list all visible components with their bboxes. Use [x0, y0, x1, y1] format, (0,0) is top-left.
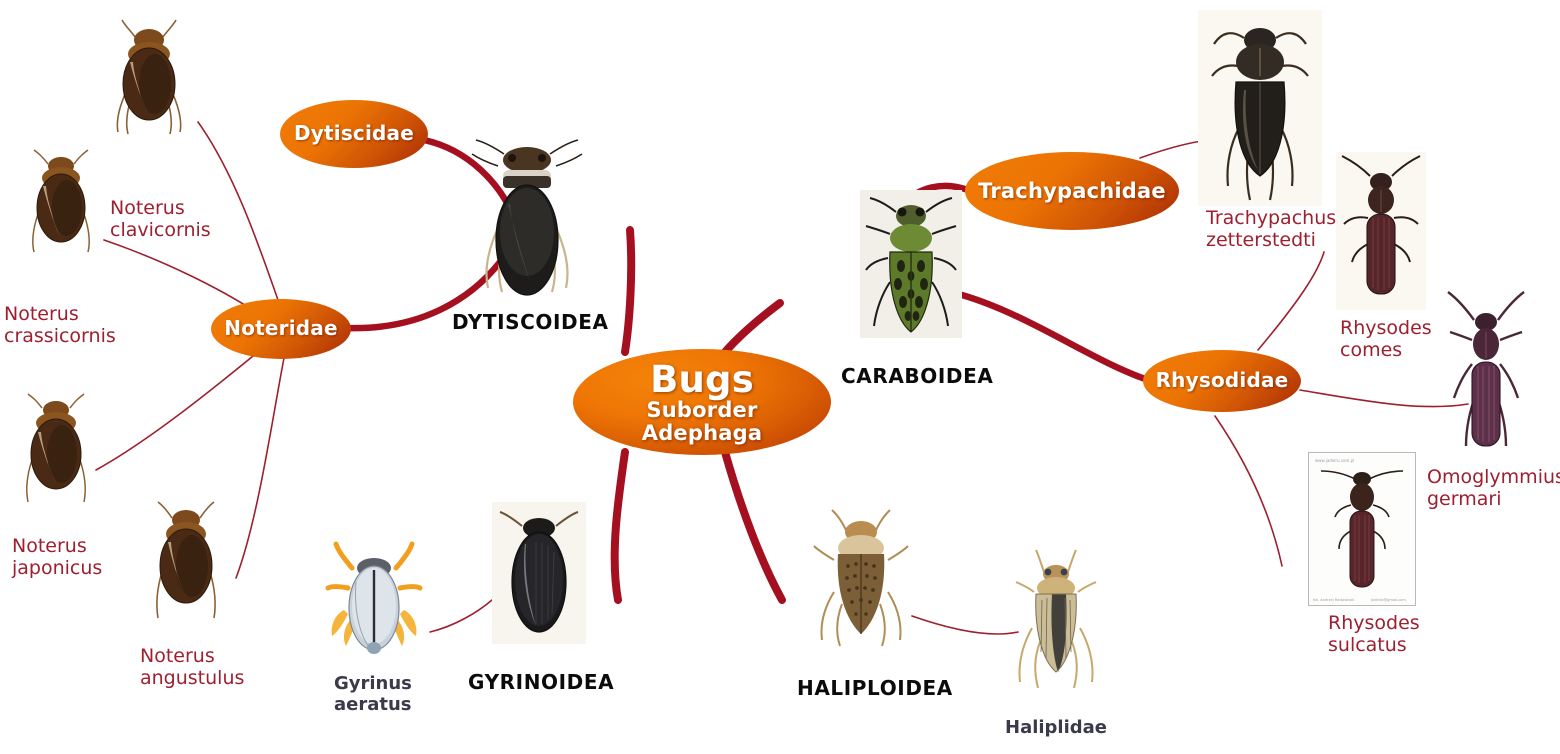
- line-noterus-japonicus: [96, 352, 258, 470]
- node-noteridae-label: Noteridae: [224, 318, 338, 339]
- center-title: Bugs: [650, 360, 754, 399]
- beetle-noterus-clavicornis: [100, 18, 198, 136]
- beetle-gyrinoidea: [492, 502, 586, 644]
- beetle-caraboidea: [860, 190, 962, 338]
- node-dytiscidae[interactable]: Dytiscidae: [280, 100, 428, 168]
- branch-center-haliploidea: [725, 452, 782, 600]
- node-noteridae[interactable]: Noteridae: [211, 299, 351, 359]
- label-haliplidae: Haliplidae: [1005, 717, 1107, 738]
- line-haliplidae: [912, 616, 1018, 634]
- label-trachypachus-zetterstedti: Trachypachus zetterstedti: [1206, 207, 1336, 252]
- label-caraboidea: CARABOIDEA: [841, 364, 993, 388]
- beetle-haliploidea: [806, 508, 916, 648]
- center-subtitle-line1: Suborder: [646, 399, 757, 421]
- mindmap-canvas: .thick{fill:none;stroke:#A51020;stroke-l…: [0, 0, 1560, 754]
- beetle-trachypachus: [1198, 10, 1322, 206]
- node-dytiscidae-label: Dytiscidae: [294, 123, 414, 144]
- label-haliploidea: HALIPLOIDEA: [797, 676, 953, 700]
- beetle-gyrinus-aeratus: [320, 536, 428, 660]
- line-rhysodes-sulcatus: [1215, 416, 1282, 566]
- branch-center-dytiscoidea: [625, 230, 631, 352]
- beetle-rhysodes-sulcatus: www.jadeiru.com.pl fot. Andrzej Radwansk…: [1308, 452, 1416, 606]
- label-gyrinus-aeratus: Gyrinus aeratus: [334, 673, 412, 715]
- label-noterus-crassicornis: Noterus crassicornis: [4, 303, 116, 348]
- label-noterus-japonicus: Noterus japonicus: [12, 535, 102, 580]
- label-gyrinoidea: GYRINOIDEA: [468, 670, 614, 694]
- svg-text:fot. Andrzej Radwanski: fot. Andrzej Radwanski: [1313, 598, 1354, 602]
- beetle-omoglymmius: [1444, 290, 1528, 458]
- label-rhysodes-sulcatus: Rhysodes sulcatus: [1328, 612, 1420, 657]
- line-omoglymmius: [1300, 390, 1468, 407]
- line-noterus-angustulus: [236, 358, 284, 578]
- beetle-noterus-crassicornis: [18, 148, 104, 256]
- label-noterus-clavicornis: Noterus clavicornis: [110, 197, 211, 242]
- label-noterus-angustulus: Noterus angustulus: [140, 645, 244, 690]
- beetle-rhysodes-comes: [1336, 152, 1426, 310]
- line-noterus-crassicornis: [104, 240, 256, 312]
- node-rhysodidae[interactable]: Rhysodidae: [1143, 350, 1301, 412]
- label-omoglymmius-germari: Omoglymmius germari: [1427, 466, 1560, 511]
- branch-center-caraboidea: [725, 303, 780, 352]
- beetle-haliplidae: [1008, 548, 1104, 690]
- center-node-bugs[interactable]: Bugs Suborder Adephaga: [573, 349, 831, 455]
- node-trachypachidae-label: Trachypachidae: [978, 180, 1166, 202]
- beetle-dytiscoidea: [468, 132, 586, 300]
- line-gyrinus-aeratus: [430, 600, 492, 632]
- center-subtitle-line2: Adephaga: [642, 422, 762, 444]
- node-trachypachidae[interactable]: Trachypachidae: [965, 152, 1179, 230]
- node-rhysodidae-label: Rhysodidae: [1156, 370, 1289, 391]
- label-dytiscoidea: DYTISCOIDEA: [452, 310, 609, 334]
- label-rhysodes-comes: Rhysodes comes: [1340, 317, 1432, 362]
- beetle-noterus-angustulus: [140, 500, 232, 620]
- line-rhysodes-comes: [1258, 252, 1324, 350]
- svg-text:www.jadeiru.com.pl: www.jadeiru.com.pl: [1315, 458, 1354, 463]
- svg-text:jadeiru@gmail.com: jadeiru@gmail.com: [1370, 598, 1406, 602]
- beetle-noterus-japonicus: [12, 392, 100, 504]
- branch-center-gyrinoidea: [615, 452, 625, 600]
